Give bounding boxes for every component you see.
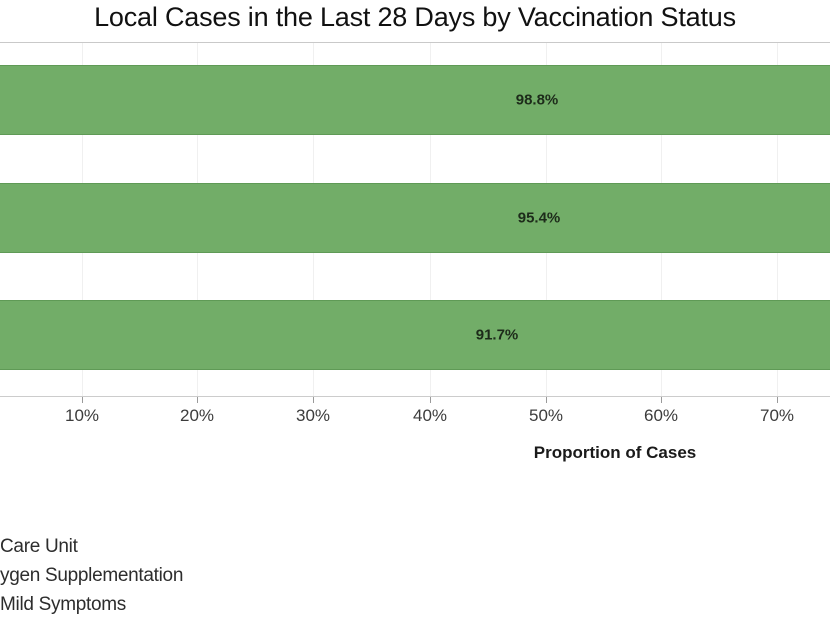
x-axis-tick-label: 60% [644,406,678,426]
bar-chart-figure: Local Cases in the Last 28 Days by Vacci… [0,0,830,622]
bar-track: 98.8% [0,65,830,135]
category-label-2: Mild Symptoms [0,594,126,616]
chart-title: Local Cases in the Last 28 Days by Vacci… [0,2,830,33]
x-axis-tick [661,397,662,403]
category-label-0: Care Unit [0,536,78,558]
x-axis-line [0,396,830,397]
category-label-1: ygen Supplementation [0,565,183,587]
bar[interactable] [0,183,830,253]
x-axis-tick [197,397,198,403]
bar-value-label: 98.8% [516,92,559,109]
bar-value-label: 95.4% [518,210,561,227]
x-axis-tick [313,397,314,403]
x-axis-tick-label: 40% [413,406,447,426]
bar[interactable] [0,300,830,370]
x-axis-tick [546,397,547,403]
x-axis-tick-label: 50% [529,406,563,426]
x-axis-tick-label: 20% [180,406,214,426]
x-axis-tick-label: 10% [65,406,99,426]
x-axis-tick [430,397,431,403]
x-axis-tick [777,397,778,403]
x-axis-tick [82,397,83,403]
bar-value-label: 91.7% [476,327,519,344]
x-axis-title: Proportion of Cases [0,443,830,463]
plot-area: 98.8%95.4%91.7% [0,42,830,397]
bar[interactable] [0,65,830,135]
x-axis-tick-label: 70% [760,406,794,426]
bar-track: 91.7% [0,300,830,370]
bar-track: 95.4% [0,183,830,253]
x-axis-tick-label: 30% [296,406,330,426]
